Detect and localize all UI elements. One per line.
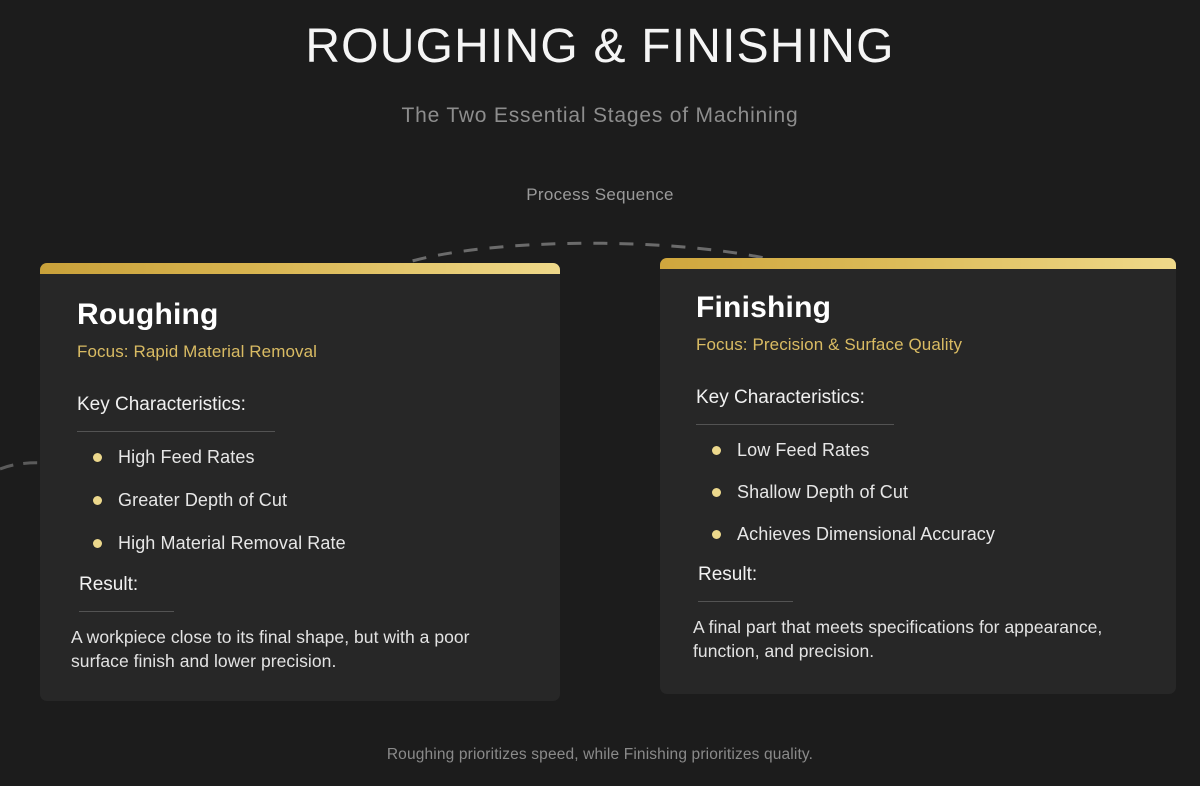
card-focus-roughing: Focus: Rapid Material Removal: [77, 342, 524, 362]
card-roughing[interactable]: Roughing Focus: Rapid Material Removal K…: [40, 263, 560, 701]
heading-divider: [696, 424, 894, 425]
result-divider: [698, 601, 793, 602]
list-item: High Feed Rates: [77, 447, 524, 468]
result-text: A final part that meets specifications f…: [693, 615, 1146, 665]
list-item: Greater Depth of Cut: [77, 490, 524, 511]
slide-header: ROUGHING & FINISHING The Two Essential S…: [0, 0, 1200, 128]
card-body: Finishing Focus: Precision & Surface Qua…: [660, 269, 1176, 664]
bullet-dot-icon: [93, 453, 102, 462]
footer-note: Roughing prioritizes speed, while Finish…: [0, 746, 1200, 764]
key-characteristics-heading: Key Characteristics:: [696, 387, 1146, 409]
card-focus-finishing: Focus: Precision & Surface Quality: [696, 335, 1146, 355]
result-block-finishing: Result: A final part that meets specific…: [696, 564, 1146, 665]
list-item: Achieves Dimensional Accuracy: [696, 524, 1146, 545]
heading-divider: [77, 431, 275, 432]
list-item: Low Feed Rates: [696, 440, 1146, 461]
list-item: High Material Removal Rate: [77, 533, 524, 554]
bullet-dot-icon: [93, 496, 102, 505]
bullet-dot-icon: [93, 539, 102, 548]
result-block-roughing: Result: A workpiece close to its final s…: [77, 574, 524, 675]
list-item-label: High Feed Rates: [118, 447, 255, 468]
characteristics-list-roughing: High Feed Rates Greater Depth of Cut Hig…: [77, 447, 524, 554]
page-subtitle: The Two Essential Stages of Machining: [0, 104, 1200, 128]
bullet-dot-icon: [712, 530, 721, 539]
list-item-label: Achieves Dimensional Accuracy: [737, 524, 995, 545]
list-item-label: Low Feed Rates: [737, 440, 869, 461]
card-accent-bar: [40, 263, 560, 274]
characteristics-list-finishing: Low Feed Rates Shallow Depth of Cut Achi…: [696, 440, 1146, 545]
result-divider: [79, 611, 174, 612]
card-title-finishing: Finishing: [696, 289, 1146, 327]
card-title-roughing: Roughing: [77, 296, 524, 334]
result-label: Result:: [79, 574, 524, 596]
slide-root: ROUGHING & FINISHING The Two Essential S…: [0, 0, 1200, 786]
page-title: ROUGHING & FINISHING: [0, 19, 1200, 76]
list-item-label: High Material Removal Rate: [118, 533, 346, 554]
list-item-label: Shallow Depth of Cut: [737, 482, 908, 503]
list-item: Shallow Depth of Cut: [696, 482, 1146, 503]
card-finishing[interactable]: Finishing Focus: Precision & Surface Qua…: [660, 258, 1176, 694]
key-characteristics-heading: Key Characteristics:: [77, 394, 524, 416]
bullet-dot-icon: [712, 446, 721, 455]
bullet-dot-icon: [712, 488, 721, 497]
card-accent-bar: [660, 258, 1176, 269]
card-body: Roughing Focus: Rapid Material Removal K…: [40, 274, 560, 674]
process-sequence-label: Process Sequence: [0, 185, 1200, 205]
list-item-label: Greater Depth of Cut: [118, 490, 287, 511]
result-text: A workpiece close to its final shape, bu…: [71, 625, 524, 675]
result-label: Result:: [698, 564, 1146, 586]
